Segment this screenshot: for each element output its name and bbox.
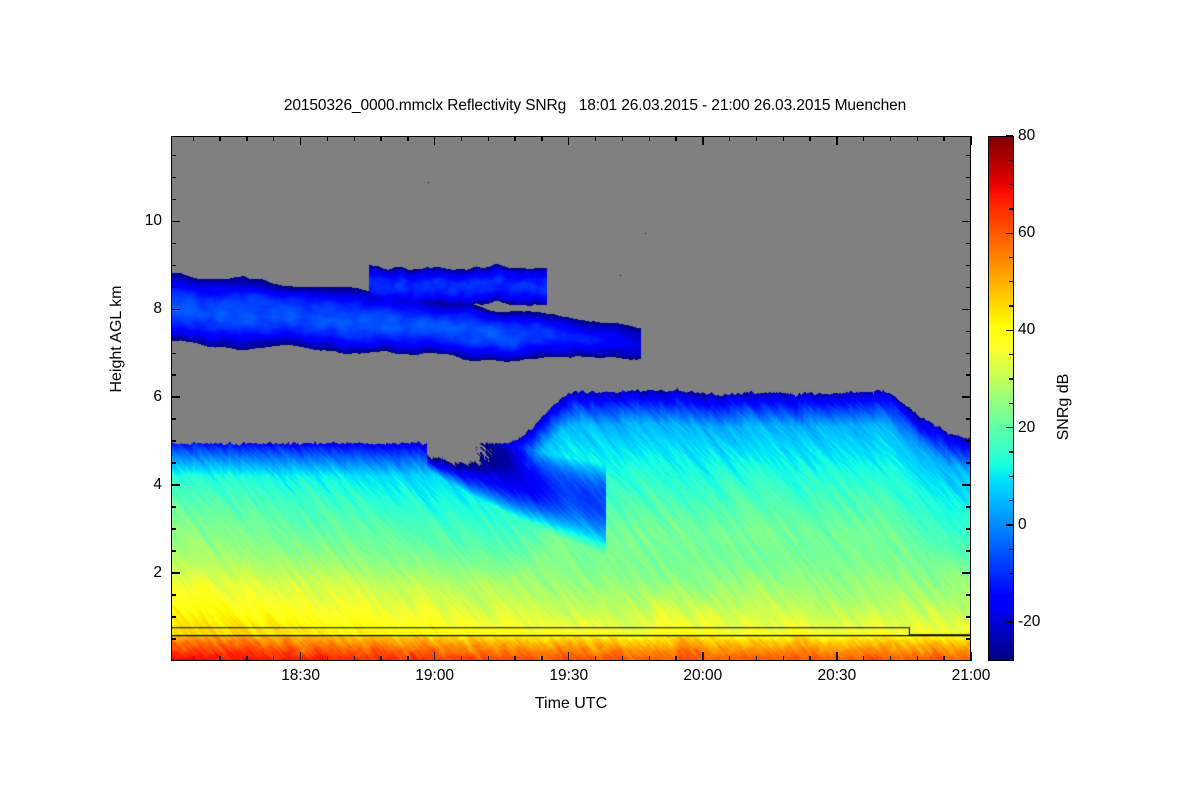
colorbar-tick-label: 40 xyxy=(1018,322,1035,338)
x-tick-minor xyxy=(514,656,515,661)
y-tick-major xyxy=(171,221,180,222)
x-tick-minor-top xyxy=(783,136,784,141)
y-tick-minor-right xyxy=(966,550,971,551)
y-tick-minor xyxy=(171,528,176,529)
y-tick-minor xyxy=(171,331,176,332)
colorbar-tick-minor xyxy=(1009,208,1013,209)
colorbar-tick-minor xyxy=(1009,646,1013,647)
y-tick-minor-right xyxy=(966,155,971,156)
colorbar-gradient xyxy=(989,137,1014,661)
colorbar xyxy=(988,136,1014,661)
x-tick-major xyxy=(836,652,837,661)
colorbar-tick-minor xyxy=(1009,476,1013,477)
y-tick-minor-right xyxy=(966,594,971,595)
y-tick-minor xyxy=(171,155,176,156)
x-tick-minor xyxy=(273,656,274,661)
y-tick-minor xyxy=(171,418,176,419)
colorbar-tick-minor xyxy=(1009,160,1013,161)
x-tick-minor xyxy=(675,656,676,661)
x-tick-minor xyxy=(890,656,891,661)
x-tick-minor xyxy=(246,656,247,661)
x-tick-label: 20:00 xyxy=(663,668,743,684)
x-tick-minor xyxy=(943,656,944,661)
colorbar-tick-label: 80 xyxy=(1018,128,1035,144)
x-tick-minor xyxy=(756,656,757,661)
y-tick-minor xyxy=(171,287,176,288)
x-tick-minor xyxy=(407,656,408,661)
x-tick-minor-top xyxy=(514,136,515,141)
colorbar-tick-minor xyxy=(1009,549,1013,550)
x-tick-major xyxy=(434,652,435,661)
y-tick-label: 6 xyxy=(153,389,162,405)
y-tick-major-right xyxy=(962,221,971,222)
x-tick-minor xyxy=(863,656,864,661)
x-tick-minor xyxy=(541,656,542,661)
colorbar-tick-label: 0 xyxy=(1018,517,1027,533)
x-tick-minor-top xyxy=(756,136,757,141)
x-tick-minor xyxy=(219,656,220,661)
x-tick-major-top xyxy=(434,136,435,145)
x-tick-minor-top xyxy=(622,136,623,141)
x-tick-minor xyxy=(649,656,650,661)
x-tick-major-top xyxy=(836,136,837,145)
y-tick-minor-right xyxy=(966,462,971,463)
x-tick-minor-top xyxy=(354,136,355,141)
x-tick-minor xyxy=(327,656,328,661)
colorbar-tick-label: 60 xyxy=(1018,225,1035,241)
x-tick-minor-top xyxy=(595,136,596,141)
x-tick-major-top xyxy=(702,136,703,145)
x-tick-major xyxy=(568,652,569,661)
colorbar-tick-minor xyxy=(1009,500,1013,501)
x-tick-minor xyxy=(809,656,810,661)
x-tick-minor-top xyxy=(327,136,328,141)
x-tick-label: 19:00 xyxy=(395,668,475,684)
y-tick-minor xyxy=(171,265,176,266)
x-tick-minor-top xyxy=(917,136,918,141)
x-tick-minor xyxy=(917,656,918,661)
x-tick-minor xyxy=(380,656,381,661)
x-tick-minor-top xyxy=(649,136,650,141)
x-tick-minor-top xyxy=(943,136,944,141)
y-tick-minor-right xyxy=(966,374,971,375)
y-tick-major-right xyxy=(962,484,971,485)
x-tick-label: 19:30 xyxy=(529,668,609,684)
colorbar-tick-minor xyxy=(1009,403,1013,404)
y-tick-label: 2 xyxy=(153,565,162,581)
y-tick-minor xyxy=(171,462,176,463)
x-tick-minor-top xyxy=(407,136,408,141)
x-tick-minor xyxy=(193,656,194,661)
y-tick-minor xyxy=(171,199,176,200)
colorbar-tick-minor xyxy=(1009,281,1013,282)
x-tick-minor xyxy=(595,656,596,661)
y-tick-major xyxy=(171,309,180,310)
reflectivity-heatmap xyxy=(172,137,971,661)
colorbar-tick xyxy=(1006,621,1013,622)
y-tick-major-right xyxy=(962,309,971,310)
colorbar-tick-minor xyxy=(1009,597,1013,598)
y-tick-minor-right xyxy=(966,616,971,617)
x-tick-minor xyxy=(622,656,623,661)
x-tick-minor-top xyxy=(729,136,730,141)
y-tick-label: 4 xyxy=(153,477,162,493)
y-tick-minor-right xyxy=(966,199,971,200)
colorbar-tick-minor xyxy=(1009,354,1013,355)
y-tick-minor-right xyxy=(966,353,971,354)
x-tick-minor xyxy=(729,656,730,661)
y-tick-minor-right xyxy=(966,265,971,266)
y-tick-major xyxy=(171,396,180,397)
colorbar-tick-minor xyxy=(1009,451,1013,452)
colorbar-tick-minor xyxy=(1009,378,1013,379)
y-tick-minor xyxy=(171,353,176,354)
y-tick-major xyxy=(171,484,180,485)
page-title: 20150326_0000.mmclx Reflectivity SNRg 18… xyxy=(0,97,1190,115)
x-tick-major xyxy=(702,652,703,661)
plot-area xyxy=(171,136,971,661)
y-tick-minor-right xyxy=(966,528,971,529)
colorbar-tick-minor xyxy=(1009,305,1013,306)
x-tick-major-top xyxy=(970,136,971,145)
colorbar-tick-label: -20 xyxy=(1018,614,1040,630)
x-tick-minor xyxy=(783,656,784,661)
x-tick-minor-top xyxy=(219,136,220,141)
y-tick-label: 10 xyxy=(145,213,162,229)
y-tick-minor xyxy=(171,374,176,375)
x-tick-major-top xyxy=(568,136,569,145)
y-tick-major xyxy=(171,572,180,573)
y-tick-minor-right xyxy=(966,177,971,178)
colorbar-tick xyxy=(1006,524,1013,525)
y-tick-major-right xyxy=(962,396,971,397)
x-tick-minor xyxy=(488,656,489,661)
y-tick-minor xyxy=(171,177,176,178)
colorbar-tick xyxy=(1006,427,1013,428)
y-tick-minor xyxy=(171,243,176,244)
x-tick-minor-top xyxy=(675,136,676,141)
y-tick-minor xyxy=(171,550,176,551)
colorbar-tick xyxy=(1006,135,1013,136)
colorbar-tick-minor xyxy=(1009,257,1013,258)
y-tick-minor-right xyxy=(966,287,971,288)
colorbar-tick-minor xyxy=(1009,184,1013,185)
colorbar-tick xyxy=(1006,330,1013,331)
y-tick-minor-right xyxy=(966,638,971,639)
x-tick-minor-top xyxy=(541,136,542,141)
y-tick-major-right xyxy=(962,572,971,573)
x-tick-label: 18:30 xyxy=(261,668,341,684)
x-tick-minor-top xyxy=(890,136,891,141)
colorbar-title: SNRg dB xyxy=(1055,327,1073,487)
y-tick-label: 8 xyxy=(153,301,162,317)
y-tick-minor xyxy=(171,440,176,441)
x-tick-minor-top xyxy=(488,136,489,141)
y-tick-minor-right xyxy=(966,440,971,441)
colorbar-tick-label: 20 xyxy=(1018,420,1035,436)
x-tick-minor xyxy=(461,656,462,661)
x-tick-label: 20:30 xyxy=(797,668,877,684)
colorbar-tick-minor xyxy=(1009,573,1013,574)
x-tick-minor-top xyxy=(461,136,462,141)
y-tick-minor-right xyxy=(966,506,971,507)
x-axis-title: Time UTC xyxy=(171,695,971,713)
x-tick-minor-top xyxy=(246,136,247,141)
y-tick-minor-right xyxy=(966,418,971,419)
x-tick-minor-top xyxy=(273,136,274,141)
x-tick-minor-top xyxy=(863,136,864,141)
x-tick-minor-top xyxy=(809,136,810,141)
colorbar-tick xyxy=(1006,233,1013,234)
y-tick-minor xyxy=(171,638,176,639)
y-tick-minor-right xyxy=(966,331,971,332)
x-tick-minor-top xyxy=(193,136,194,141)
x-tick-major xyxy=(970,652,971,661)
y-tick-minor xyxy=(171,616,176,617)
x-tick-major-top xyxy=(300,136,301,145)
y-tick-minor xyxy=(171,506,176,507)
x-tick-label: 21:00 xyxy=(931,668,1011,684)
x-tick-minor-top xyxy=(380,136,381,141)
y-tick-minor xyxy=(171,594,176,595)
x-tick-major xyxy=(300,652,301,661)
y-axis-title: Height AGL km xyxy=(108,219,126,459)
y-tick-minor-right xyxy=(966,243,971,244)
x-tick-minor xyxy=(354,656,355,661)
